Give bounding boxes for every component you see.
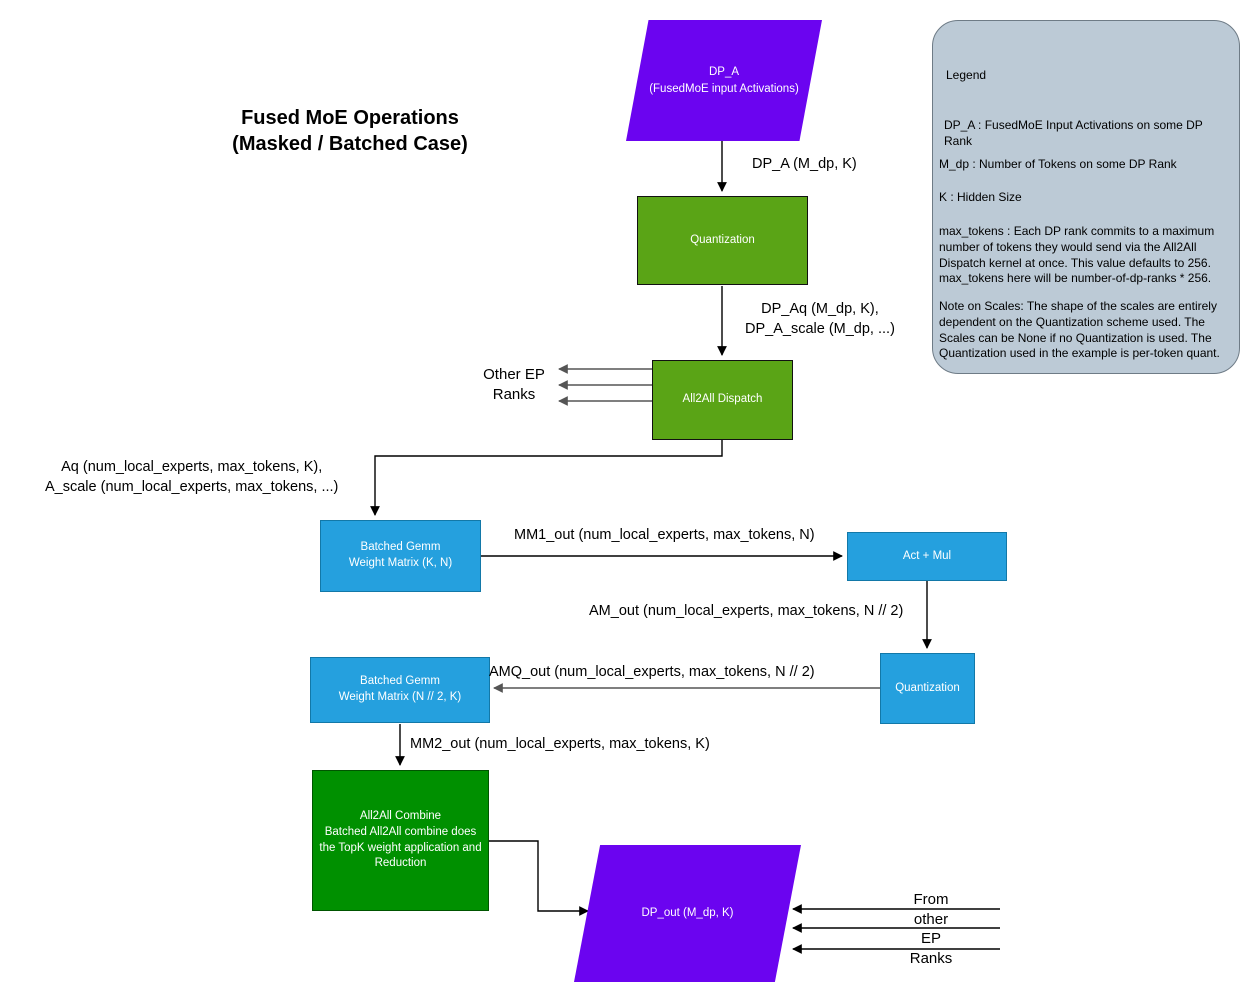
edge-dispatch-to-gemm1: [375, 440, 722, 515]
node-all2all-combine[interactable]: All2All Combine Batched All2All combine …: [312, 770, 489, 911]
diagram-canvas: Fused MoE Operations (Masked / Batched C…: [0, 0, 1260, 1001]
edge-label-am-out: AM_out (num_local_experts, max_tokens, N…: [589, 602, 903, 622]
edge-label-mm2-out: MM2_out (num_local_experts, max_tokens, …: [410, 735, 710, 755]
node-all2all-dispatch[interactable]: All2All Dispatch: [652, 360, 793, 440]
legend-entry-max-tokens: max_tokens : Each DP rank commits to a m…: [939, 224, 1225, 287]
node-dp-a[interactable]: DP_A (FusedMoE input Activations): [626, 20, 822, 141]
node-dp-out[interactable]: DP_out (M_dp, K): [574, 845, 801, 982]
label-other-ep-ranks: Other EP Ranks: [470, 365, 558, 404]
page-title: Fused MoE Operations (Masked / Batched C…: [180, 105, 520, 157]
edge-label-mm1-out: MM1_out (num_local_experts, max_tokens, …: [514, 526, 815, 546]
node-act-mul[interactable]: Act + Mul: [847, 532, 1007, 581]
label-from-other-ep-ranks: From other EP Ranks: [898, 890, 964, 968]
legend-entry-dp-a: DP_A : FusedMoE Input Activations on som…: [944, 118, 1230, 150]
edge-label-quant1-out: DP_Aq (M_dp, K), DP_A_scale (M_dp, ...): [745, 300, 895, 339]
edge-label-dp-a-out: DP_A (M_dp, K): [752, 155, 857, 175]
node-batched-gemm-2[interactable]: Batched Gemm Weight Matrix (N // 2, K): [310, 657, 490, 723]
legend-entry-m-dp: M_dp : Number of Tokens on some DP Rank: [939, 157, 1225, 173]
node-quantization-2[interactable]: Quantization: [880, 653, 975, 724]
legend-heading: Legend: [946, 68, 986, 82]
edge-label-amq-out: AMQ_out (num_local_experts, max_tokens, …: [489, 663, 815, 683]
legend-entry-k: K : Hidden Size: [939, 190, 1225, 206]
legend-entry-note-on-scales: Note on Scales: The shape of the scales …: [939, 299, 1225, 362]
edge-label-dispatch-out: Aq (num_local_experts, max_tokens, K), A…: [45, 458, 338, 497]
edge-combine-to-dpout: [489, 841, 588, 911]
node-quantization-1[interactable]: Quantization: [637, 196, 808, 285]
node-batched-gemm-1[interactable]: Batched Gemm Weight Matrix (K, N): [320, 520, 481, 592]
